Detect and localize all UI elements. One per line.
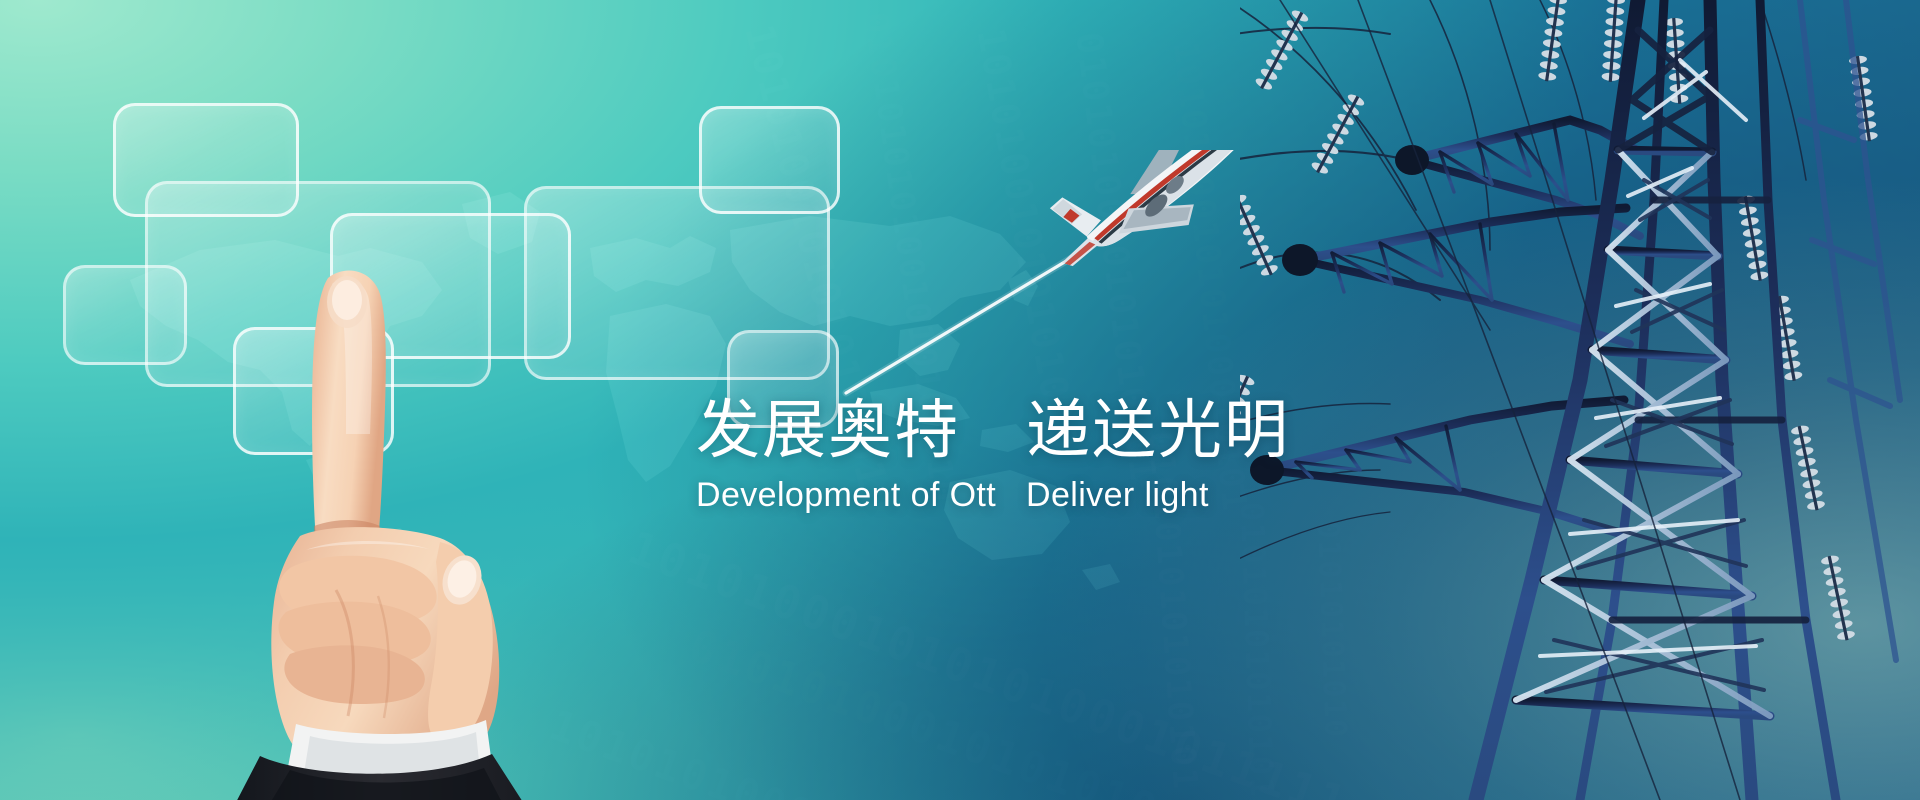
subtitle-row: Development of Ott Deliver light	[696, 477, 1396, 514]
subtitle-left: Development of Ott	[696, 477, 1026, 514]
hero-banner: 1010100101010101010010101010100101010101…	[0, 0, 1920, 800]
headline-block: 发展奥特 递送光明 Development of Ott Deliver lig…	[696, 396, 1396, 515]
page-title: 发展奥特 递送光明	[696, 396, 1396, 465]
subtitle-right: Deliver light	[1026, 477, 1209, 514]
glass-panel-panel-7[interactable]	[699, 106, 840, 214]
pointing-hand-icon	[140, 250, 560, 800]
